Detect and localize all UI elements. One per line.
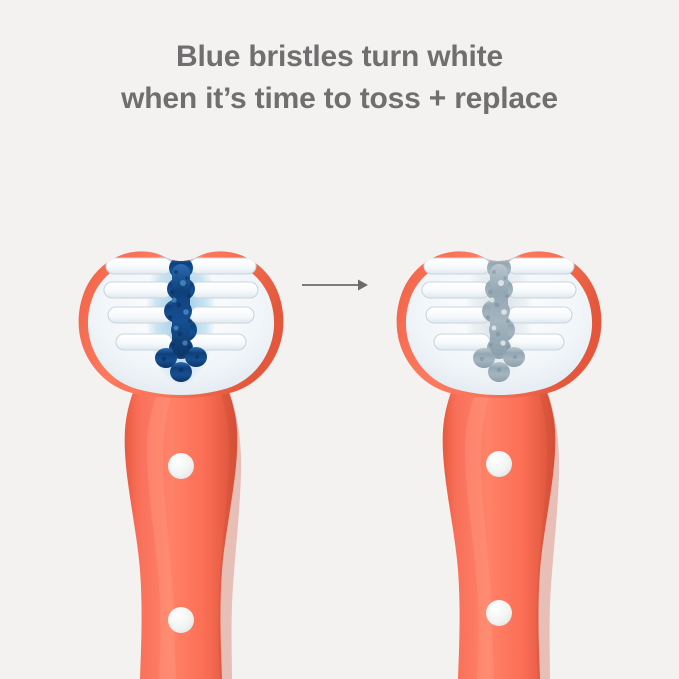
product-illustration-canvas: Blue bristles turn white when it’s time … bbox=[0, 0, 679, 679]
handle-dot-after-2 bbox=[486, 600, 512, 626]
handle-dot-before-2 bbox=[168, 607, 194, 633]
handle-dot-after-1 bbox=[486, 451, 512, 477]
transition-arrow bbox=[302, 280, 368, 291]
toothbrush-comparison-scene bbox=[0, 0, 679, 679]
handle-dot-before-1 bbox=[168, 453, 194, 479]
toothbrush-illustration bbox=[0, 0, 679, 679]
